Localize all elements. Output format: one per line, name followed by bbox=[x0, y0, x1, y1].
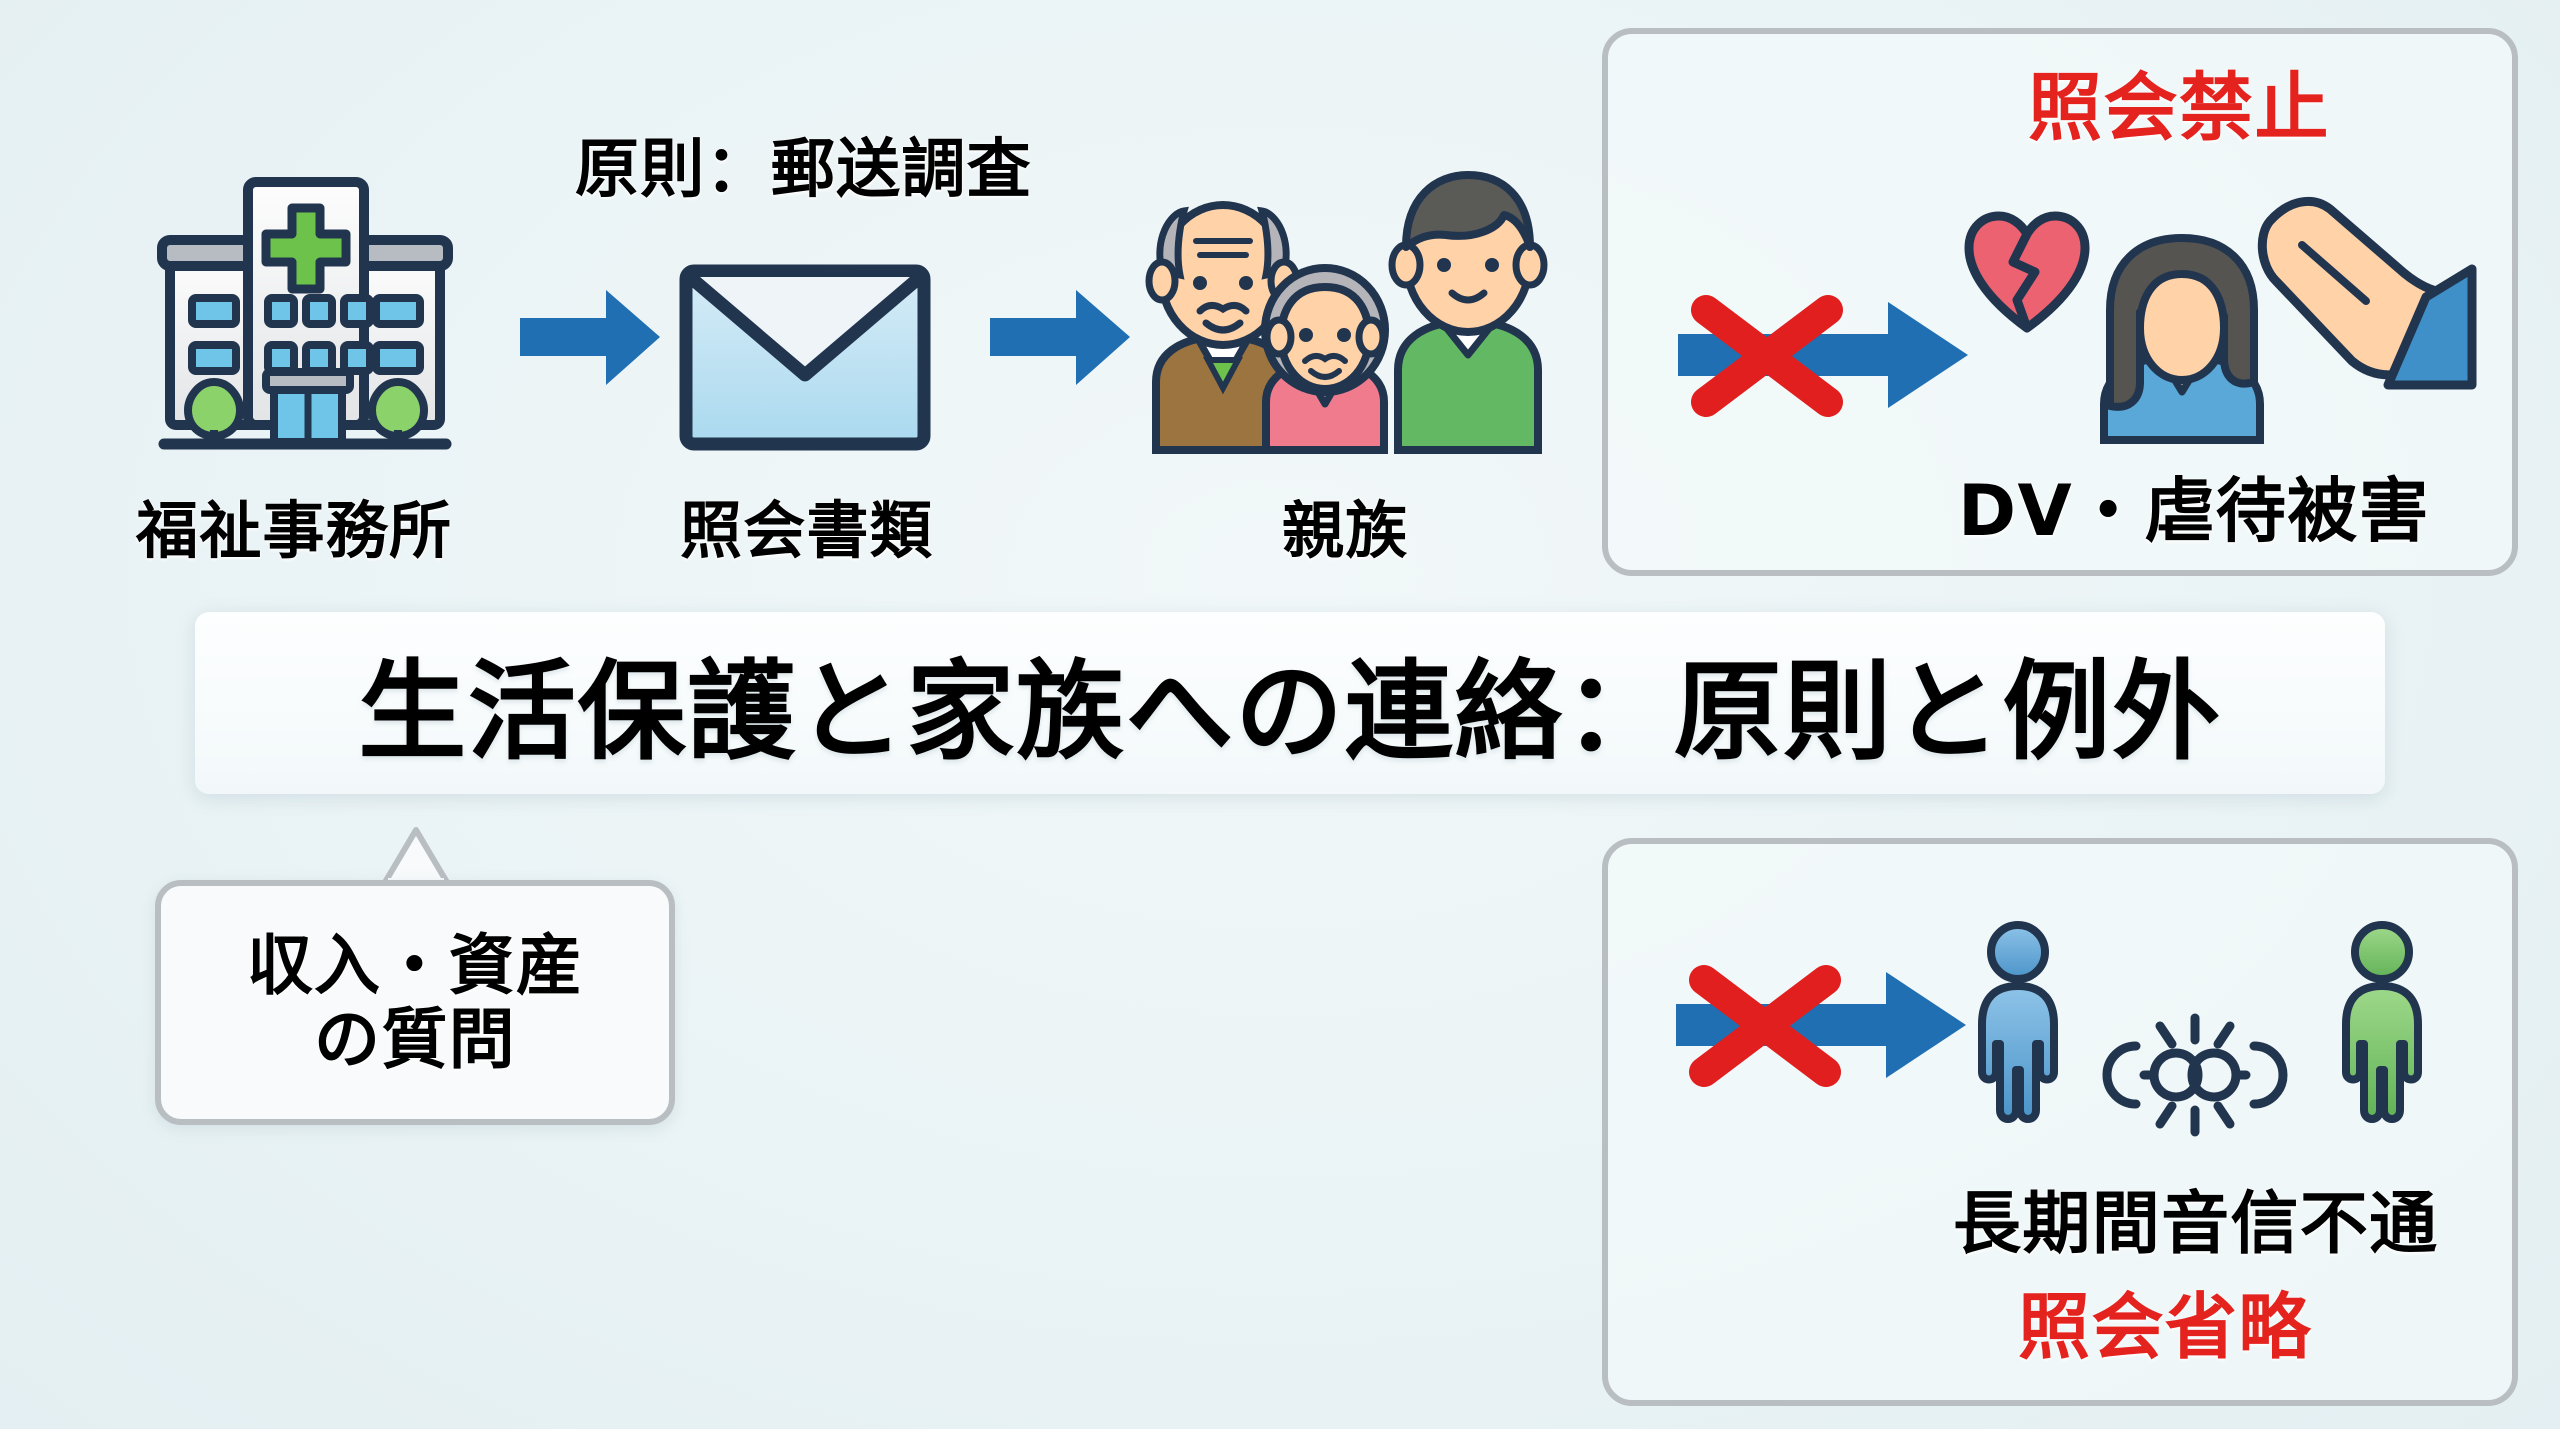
panel-bottom-caption: 照会省略 bbox=[2018, 1268, 2312, 1373]
family-relatives-icon bbox=[1148, 165, 1568, 455]
blocked-arrow-icon-2 bbox=[1676, 960, 1966, 1090]
flow-heading: 原則：郵送調査 bbox=[575, 118, 1032, 210]
flow-label-welfare-office: 福祉事務所 bbox=[136, 480, 452, 570]
broken-heart-icon bbox=[1963, 210, 2091, 332]
speech-bubble-tail bbox=[382, 828, 450, 884]
bubble-line-2: の質問 bbox=[314, 1003, 516, 1077]
broken-chain-icon bbox=[2100, 1010, 2290, 1140]
blocked-arrow-icon bbox=[1678, 290, 1968, 420]
flow-label-inquiry-document: 照会書類 bbox=[680, 480, 933, 570]
person-blue-icon bbox=[1958, 920, 2078, 1150]
page-title-banner: 生活保護と家族への連絡：原則と例外 bbox=[195, 612, 2385, 794]
speech-bubble-income-assets: 収入・資産 の質問 bbox=[155, 880, 675, 1125]
right-arrow-icon bbox=[520, 290, 660, 385]
infographic-canvas: 原則：郵送調査 bbox=[0, 0, 2560, 1429]
panel-top-caption: DV・虐待被害 bbox=[1958, 455, 2430, 556]
panel-bottom-headline: 長期間音信不通 bbox=[1953, 1168, 2439, 1267]
raised-hand-icon bbox=[2258, 185, 2473, 385]
page-title: 生活保護と家族への連絡：原則と例外 bbox=[358, 625, 2222, 781]
envelope-icon bbox=[680, 265, 930, 450]
person-green-icon bbox=[2322, 920, 2442, 1150]
woman-victim-icon bbox=[2082, 232, 2282, 442]
bubble-line-1: 収入・資産 bbox=[247, 929, 584, 1003]
panel-top-headline: 照会禁止 bbox=[2028, 48, 2330, 155]
flow-label-relatives: 親族 bbox=[1282, 480, 1408, 570]
right-arrow-icon-2 bbox=[990, 290, 1130, 385]
welfare-office-building-icon bbox=[140, 130, 470, 460]
